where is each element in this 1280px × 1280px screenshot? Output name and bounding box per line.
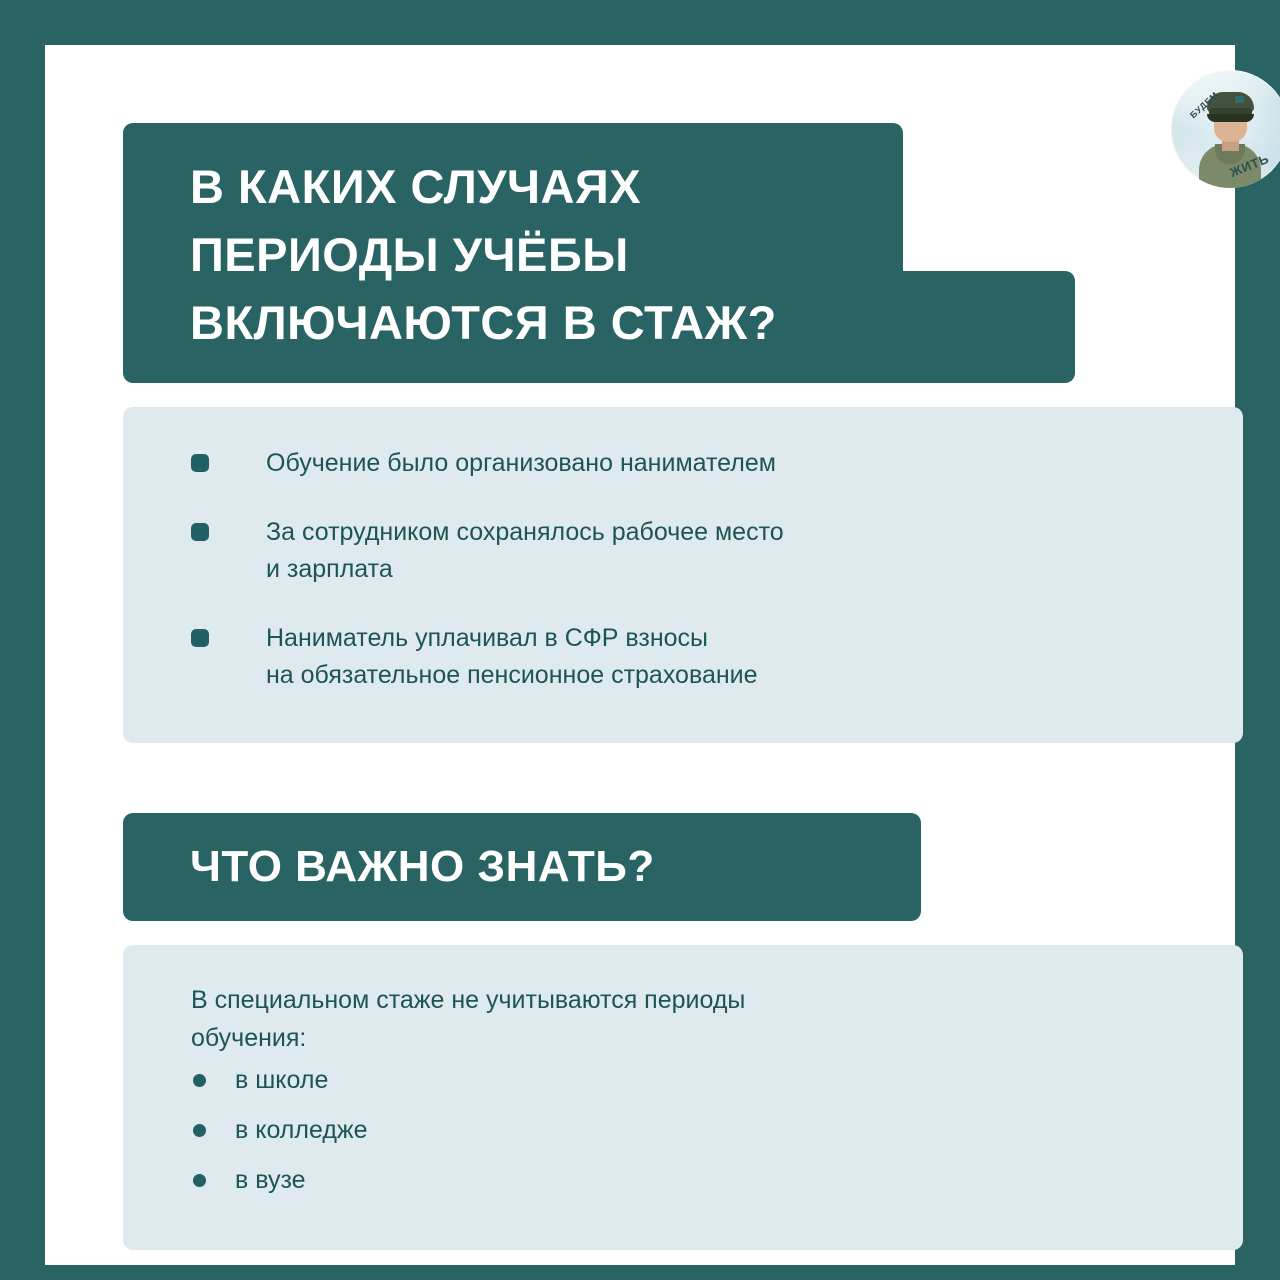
dot-bullet-icon — [193, 1124, 206, 1137]
conditions-list: Обучение было организовано нанимателем З… — [191, 445, 1203, 694]
list-item: в школе — [193, 1067, 368, 1091]
dot-bullet-icon — [193, 1174, 206, 1187]
brand-logo-badge: БУДЕМ ЖИТЬ — [1171, 70, 1280, 188]
notes-intro-text: В специальном стаже не учитываются перио… — [191, 981, 1091, 1057]
notes-heading-block: ЧТО ВАЖНО ЗНАТЬ? — [123, 813, 921, 921]
square-bullet-icon — [191, 629, 209, 647]
notes-panel: В специальном стаже не учитываются перио… — [123, 945, 1243, 1250]
list-item: в колледже — [193, 1117, 368, 1141]
dot-bullet-icon — [193, 1074, 206, 1087]
list-item-label: За сотрудником сохранялось рабочее место… — [266, 518, 784, 583]
conditions-panel: Обучение было организовано нанимателем З… — [123, 407, 1243, 743]
list-item-label: Наниматель уплачивал в СФР взносы на обя… — [266, 624, 758, 689]
notes-list: в школе в колледже в вузе — [193, 1067, 368, 1191]
infographic-poster: БУДЕМ ЖИТЬ В КАКИХ СЛУЧАЯХ ПЕРИОДЫ УЧЁБЫ… — [0, 0, 1280, 1280]
list-item: За сотрудником сохранялось рабочее место… — [191, 514, 1203, 588]
poster-title-block: В КАКИХ СЛУЧАЯХ ПЕРИОДЫ УЧЁБЫ ВКЛЮЧАЮТСЯ… — [123, 123, 1075, 383]
list-item-label: Обучение было организовано нанимателем — [266, 449, 776, 477]
list-item: Обучение было организовано нанимателем — [191, 445, 1203, 482]
soldier-portrait-icon — [1171, 70, 1280, 188]
list-item-label: в колледже — [235, 1116, 368, 1144]
notes-heading: ЧТО ВАЖНО ЗНАТЬ? — [190, 841, 655, 893]
list-item-label: в школе — [235, 1066, 328, 1094]
poster-canvas: БУДЕМ ЖИТЬ В КАКИХ СЛУЧАЯХ ПЕРИОДЫ УЧЁБЫ… — [45, 45, 1235, 1265]
list-item: Наниматель уплачивал в СФР взносы на обя… — [191, 620, 1203, 694]
square-bullet-icon — [191, 454, 209, 472]
page-title: В КАКИХ СЛУЧАЯХ ПЕРИОДЫ УЧЁБЫ ВКЛЮЧАЮТСЯ… — [190, 153, 1090, 357]
square-bullet-icon — [191, 523, 209, 541]
list-item-label: в вузе — [235, 1166, 306, 1194]
list-item: в вузе — [193, 1167, 368, 1191]
